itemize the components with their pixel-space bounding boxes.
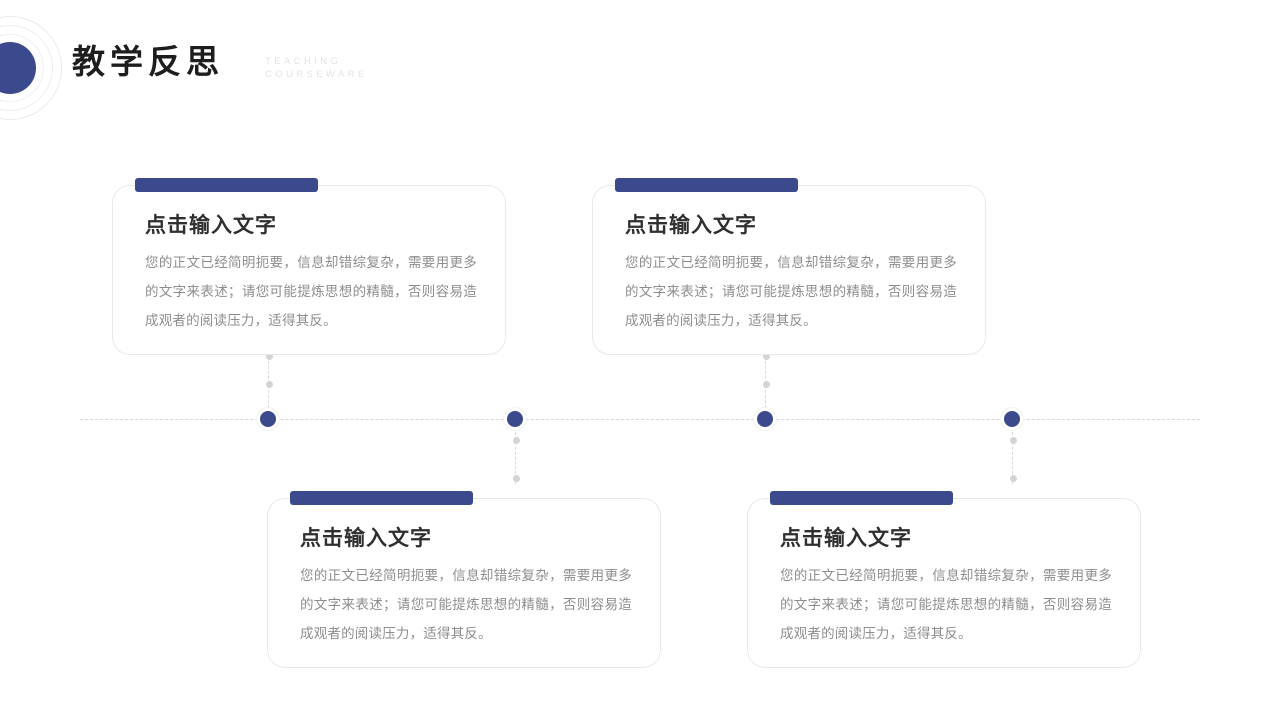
timeline-node-2[interactable] — [504, 408, 526, 430]
timeline-connector-4 — [1012, 432, 1014, 484]
card-body-text: 您的正文已经简明扼要，信息却错综复杂，需要用更多的文字来表述；请您可能提炼思想的… — [300, 561, 632, 648]
timeline-node-4[interactable] — [1001, 408, 1023, 430]
card-title: 点击输入文字 — [300, 525, 432, 553]
card-accent-bar — [135, 178, 318, 192]
connector-dot — [513, 475, 520, 482]
timeline-connector-3 — [765, 356, 767, 408]
content-card[interactable]: 点击输入文字 您的正文已经简明扼要，信息却错综复杂，需要用更多的文字来表述；请您… — [747, 498, 1141, 668]
connector-dot — [763, 381, 770, 388]
page-subtitle: TEACHING COURSEWARE — [265, 55, 368, 81]
connector-dot — [1010, 437, 1017, 444]
content-card[interactable]: 点击输入文字 您的正文已经简明扼要，信息却错综复杂，需要用更多的文字来表述；请您… — [267, 498, 661, 668]
slide-canvas: 教学反思 TEACHING COURSEWARE 点击输入文字 您的正文已经简明… — [0, 0, 1280, 720]
card-accent-bar — [290, 491, 473, 505]
timeline-axis — [80, 419, 1200, 420]
slide-header: 教学反思 TEACHING COURSEWARE — [0, 0, 1280, 130]
card-title: 点击输入文字 — [625, 212, 757, 240]
content-card[interactable]: 点击输入文字 您的正文已经简明扼要，信息却错综复杂，需要用更多的文字来表述；请您… — [592, 185, 986, 355]
card-title: 点击输入文字 — [780, 525, 912, 553]
connector-dot — [1010, 475, 1017, 482]
connector-dot — [513, 437, 520, 444]
page-subtitle-line1: TEACHING — [265, 55, 368, 68]
timeline-connector-1 — [268, 356, 270, 408]
timeline-node-1[interactable] — [257, 408, 279, 430]
card-title: 点击输入文字 — [145, 212, 277, 240]
card-body-text: 您的正文已经简明扼要，信息却错综复杂，需要用更多的文字来表述；请您可能提炼思想的… — [625, 248, 957, 335]
card-body-text: 您的正文已经简明扼要，信息却错综复杂，需要用更多的文字来表述；请您可能提炼思想的… — [780, 561, 1112, 648]
timeline-connector-2 — [515, 432, 517, 484]
card-body-text: 您的正文已经简明扼要，信息却错综复杂，需要用更多的文字来表述；请您可能提炼思想的… — [145, 248, 477, 335]
page-title: 教学反思 — [72, 42, 224, 82]
concentric-circles-icon — [0, 16, 62, 120]
title-block: 教学反思 — [72, 42, 224, 98]
content-card[interactable]: 点击输入文字 您的正文已经简明扼要，信息却错综复杂，需要用更多的文字来表述；请您… — [112, 185, 506, 355]
timeline-node-3[interactable] — [754, 408, 776, 430]
connector-dot — [266, 381, 273, 388]
card-accent-bar — [615, 178, 798, 192]
card-accent-bar — [770, 491, 953, 505]
page-subtitle-line2: COURSEWARE — [265, 68, 368, 81]
